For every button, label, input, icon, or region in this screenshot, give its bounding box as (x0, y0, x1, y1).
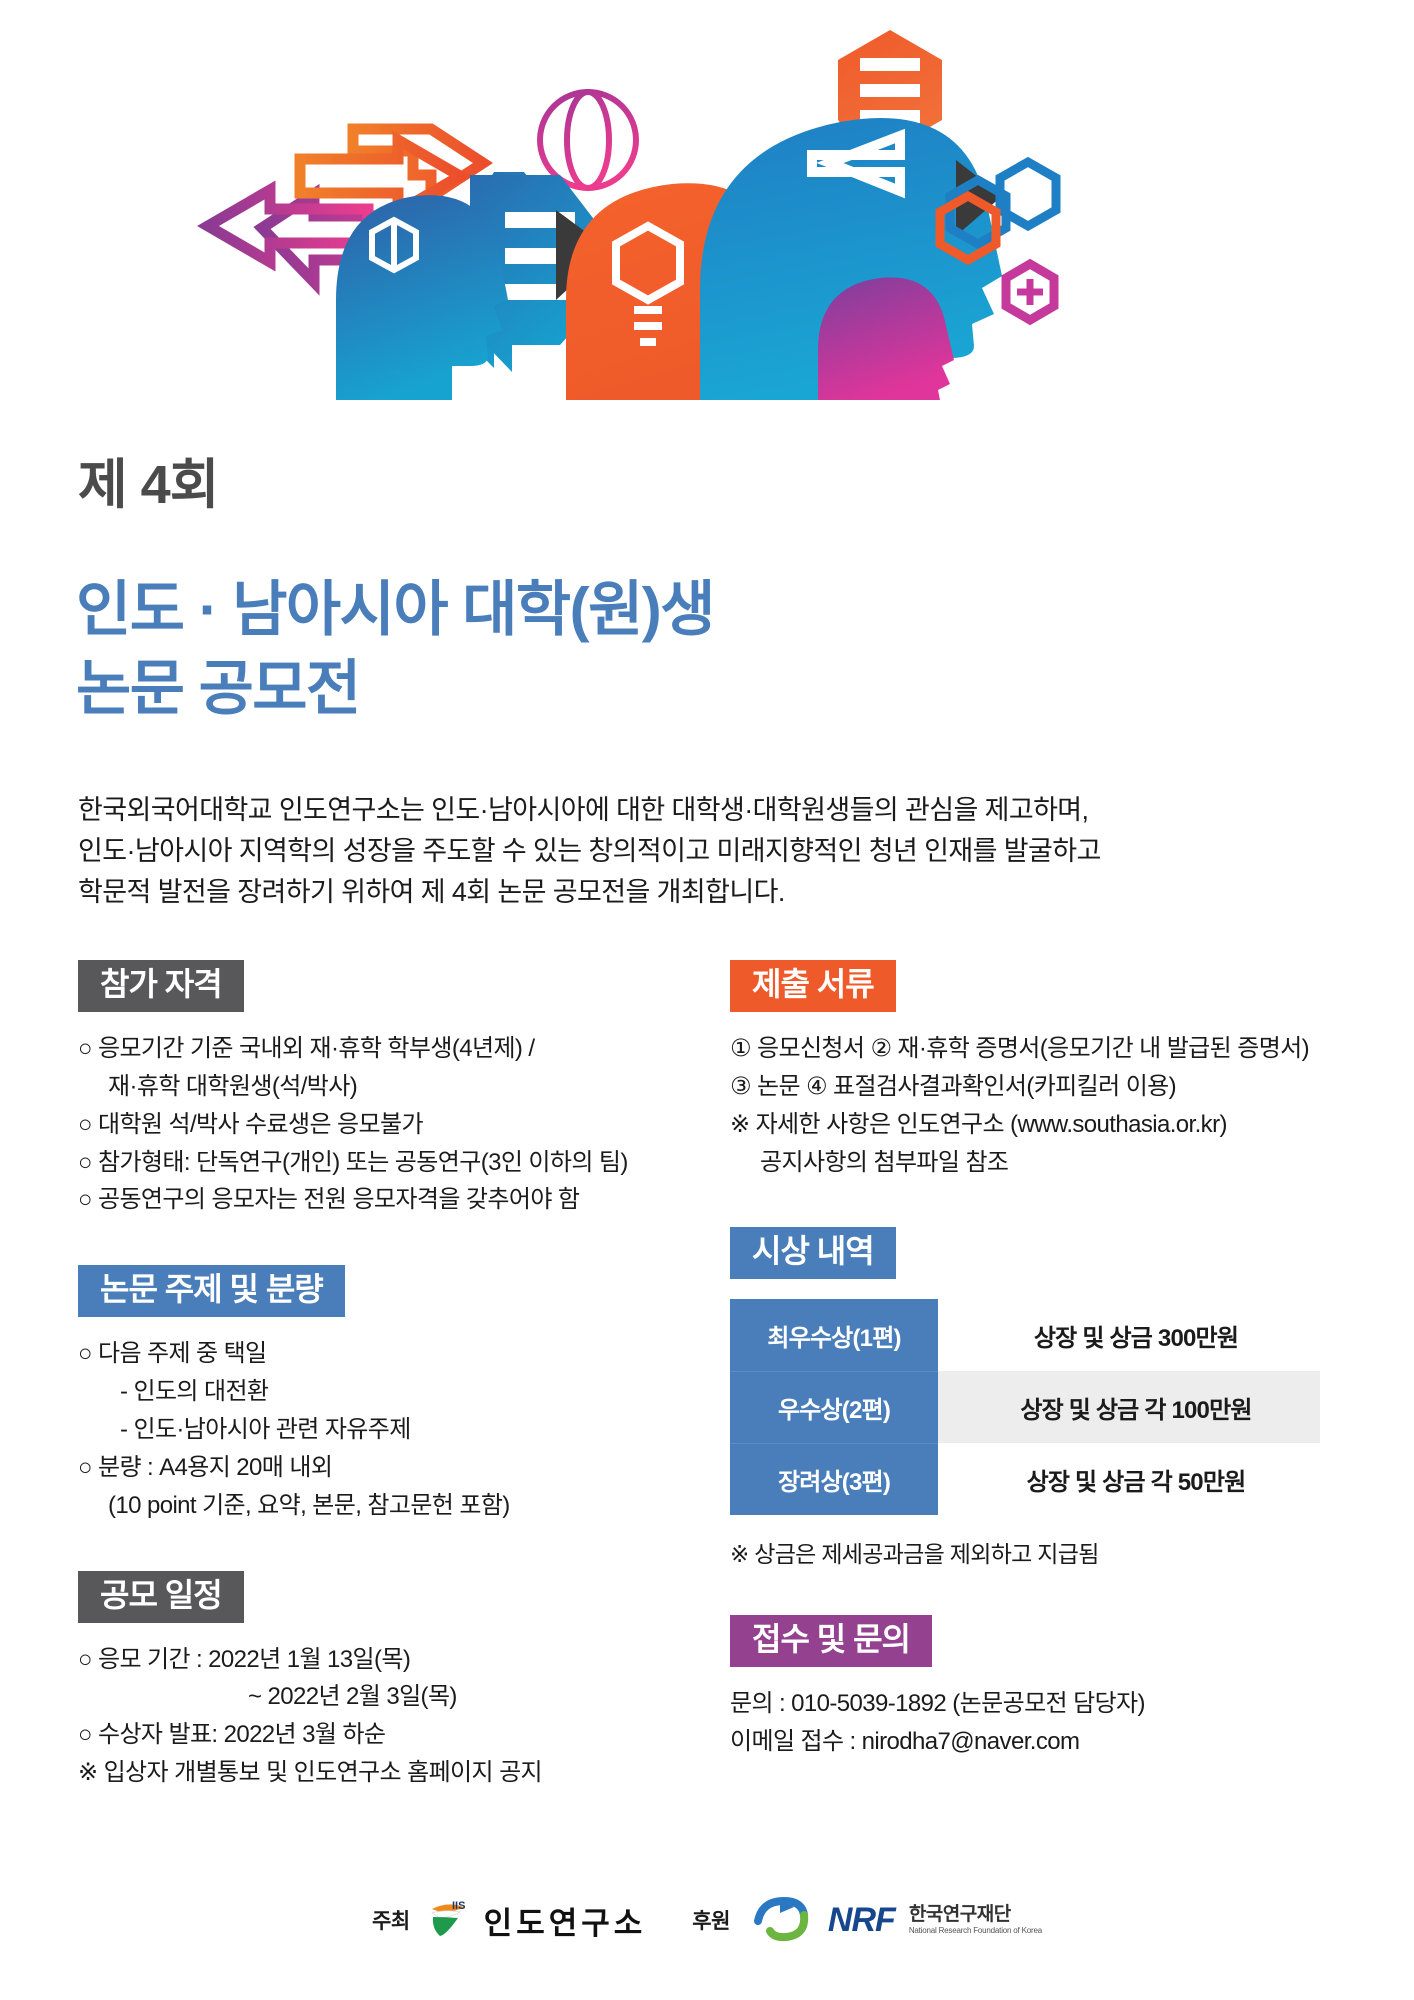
section-body-topic: ○ 다음 주제 중 택일 - 인도의 대전환 - 인도·남아시아 관련 자유주제… (78, 1335, 678, 1525)
list-item: ○ 분량 : A4용지 20매 내외 (78, 1449, 678, 1487)
sponsor-name-kr: 한국연구재단 (909, 1905, 1042, 1926)
contact-email: 이메일 접수 : nirodha7@naver.com (730, 1723, 1350, 1761)
host-group: 주최 IIS 인도연구소 (372, 1895, 646, 1946)
prize-table: 최우수상(1편) 상장 및 상금 300만원 우수상(2편) 상장 및 상금 각… (730, 1299, 1320, 1515)
head-silhouette-blue (336, 195, 508, 400)
poster-kicker: 제 4회 (78, 458, 218, 512)
section-contact: 접수 및 문의 문의 : 010-5039-1892 (논문공모전 담당자) 이… (730, 1615, 1350, 1761)
list-item: ○ 응모 기간 : 2022년 1월 13일(목) (78, 1641, 678, 1679)
section-heading-schedule: 공모 일정 (78, 1571, 244, 1623)
host-label: 주최 (372, 1905, 410, 1935)
list-item: - 인도·남아시아 관련 자유주제 (78, 1411, 678, 1449)
prize-value: 상장 및 상금 각 50만원 (938, 1443, 1320, 1515)
section-eligibility: 참가 자격 ○ 응모기간 기준 국내외 재·휴학 학부생(4년제) / 재·휴학… (78, 960, 678, 1219)
hero-graphic (0, 0, 1414, 400)
host-name: 인도연구소 (484, 1898, 647, 1943)
left-column: 참가 자격 ○ 응모기간 기준 국내외 재·휴학 학부생(4년제) / 재·휴학… (78, 960, 678, 1838)
svg-text:IIS: IIS (452, 1900, 465, 1912)
section-heading-eligibility: 참가 자격 (78, 960, 244, 1012)
section-heading-prizes: 시상 내역 (730, 1227, 896, 1279)
page-title: 인도 · 남아시아 대학(원)생 논문 공모전 (76, 570, 714, 728)
section-heading-documents: 제출 서류 (730, 960, 896, 1012)
list-item: 재·휴학 대학원생(석/박사) (78, 1068, 678, 1106)
iis-logo-icon: IIS (424, 1895, 470, 1946)
list-item: ○ 다음 주제 중 택일 (78, 1335, 678, 1373)
intro-line-1: 한국외국어대학교 인도연구소는 인도·남아시아에 대한 대학생·대학원생들의 관… (78, 790, 1318, 831)
list-item: ※ 입상자 개별통보 및 인도연구소 홈페이지 공지 (78, 1754, 678, 1792)
sponsor-group: 후원 NRF 한국연구재단 National Research Foundati… (692, 1893, 1042, 1948)
title-line-1: 인도 · 남아시아 대학(원)생 (76, 570, 714, 649)
list-item: 공지사항의 첨부파일 참조 (730, 1144, 1350, 1182)
table-row: 최우수상(1편) 상장 및 상금 300만원 (730, 1299, 1320, 1371)
list-item: - 인도의 대전환 (78, 1373, 678, 1411)
table-row: 장려상(3편) 상장 및 상금 각 50만원 (730, 1443, 1320, 1515)
list-item: ※ 자세한 사항은 인도연구소 (www.southasia.or.kr) (730, 1106, 1350, 1144)
nrf-swoosh-icon (744, 1893, 814, 1948)
list-item: ○ 대학원 석/박사 수료생은 응모불가 (78, 1106, 678, 1144)
list-item: ○ 참가형태: 단독연구(개인) 또는 공동연구(3인 이하의 팀) (78, 1144, 678, 1182)
sponsor-name-block: 한국연구재단 National Research Foundation of K… (909, 1905, 1042, 1935)
intro-line-2: 인도·남아시아 지역학의 성장을 주도할 수 있는 창의적이고 미래지향적인 청… (78, 831, 1318, 872)
section-body-contact: 문의 : 010-5039-1892 (논문공모전 담당자) 이메일 접수 : … (730, 1685, 1350, 1761)
list-item: ① 응모신청서 ② 재·휴학 증명서(응모기간 내 발급된 증명서) (730, 1030, 1350, 1068)
list-item: ○ 수상자 발표: 2022년 3월 하순 (78, 1716, 678, 1754)
list-item: ○ 공동연구의 응모자는 전원 응모자격을 갖추어야 함 (78, 1181, 678, 1219)
table-row: 우수상(2편) 상장 및 상금 각 100만원 (730, 1371, 1320, 1443)
prize-label: 장려상(3편) (730, 1443, 938, 1515)
section-topic: 논문 주제 및 분량 ○ 다음 주제 중 택일 - 인도의 대전환 - 인도·남… (78, 1265, 678, 1524)
title-line-2: 논문 공모전 (76, 649, 714, 728)
section-heading-topic: 논문 주제 및 분량 (78, 1265, 345, 1317)
prize-note: ※ 상금은 제세공과금을 제외하고 지급됨 (730, 1535, 1350, 1569)
intro-paragraph: 한국외국어대학교 인도연구소는 인도·남아시아에 대한 대학생·대학원생들의 관… (78, 790, 1318, 913)
section-schedule: 공모 일정 ○ 응모 기간 : 2022년 1월 13일(목) ~ 2022년 … (78, 1571, 678, 1792)
section-prizes: 시상 내역 최우수상(1편) 상장 및 상금 300만원 우수상(2편) 상장 … (730, 1227, 1350, 1569)
sponsor-name-en: National Research Foundation of Korea (909, 1926, 1042, 1935)
section-heading-contact: 접수 및 문의 (730, 1615, 932, 1667)
section-body-schedule: ○ 응모 기간 : 2022년 1월 13일(목) ~ 2022년 2월 3일(… (78, 1641, 678, 1793)
list-item: (10 point 기준, 요약, 본문, 참고문헌 포함) (78, 1487, 678, 1525)
section-body-eligibility: ○ 응모기간 기준 국내외 재·휴학 학부생(4년제) / 재·휴학 대학원생(… (78, 1030, 678, 1220)
prize-value: 상장 및 상금 300만원 (938, 1299, 1320, 1371)
list-item: ③ 논문 ④ 표절검사결과확인서(카피킬러 이용) (730, 1068, 1350, 1106)
globe-icon (540, 92, 636, 188)
list-item: ~ 2022년 2월 3일(목) (78, 1678, 678, 1716)
list-item: ○ 응모기간 기준 국내외 재·휴학 학부생(4년제) / (78, 1030, 678, 1068)
contact-phone: 문의 : 010-5039-1892 (논문공모전 담당자) (730, 1685, 1350, 1723)
prize-label: 최우수상(1편) (730, 1299, 938, 1371)
prize-label: 우수상(2편) (730, 1371, 938, 1443)
poster-canvas: 제 4회 인도 · 남아시아 대학(원)생 논문 공모전 한국외국어대학교 인도… (0, 0, 1414, 2000)
section-body-documents: ① 응모신청서 ② 재·휴학 증명서(응모기간 내 발급된 증명서) ③ 논문 … (730, 1030, 1350, 1182)
sponsor-abbr: NRF (828, 1901, 895, 1940)
intro-line-3: 학문적 발전을 장려하기 위하여 제 4회 논문 공모전을 개최합니다. (78, 872, 1318, 913)
footer-logos: 주최 IIS 인도연구소 후원 NRF (0, 1880, 1414, 1960)
section-documents: 제출 서류 ① 응모신청서 ② 재·휴학 증명서(응모기간 내 발급된 증명서)… (730, 960, 1350, 1181)
prize-value: 상장 및 상금 각 100만원 (938, 1371, 1320, 1443)
right-column: 제출 서류 ① 응모신청서 ② 재·휴학 증명서(응모기간 내 발급된 증명서)… (730, 960, 1350, 1807)
sponsor-label: 후원 (692, 1905, 730, 1935)
